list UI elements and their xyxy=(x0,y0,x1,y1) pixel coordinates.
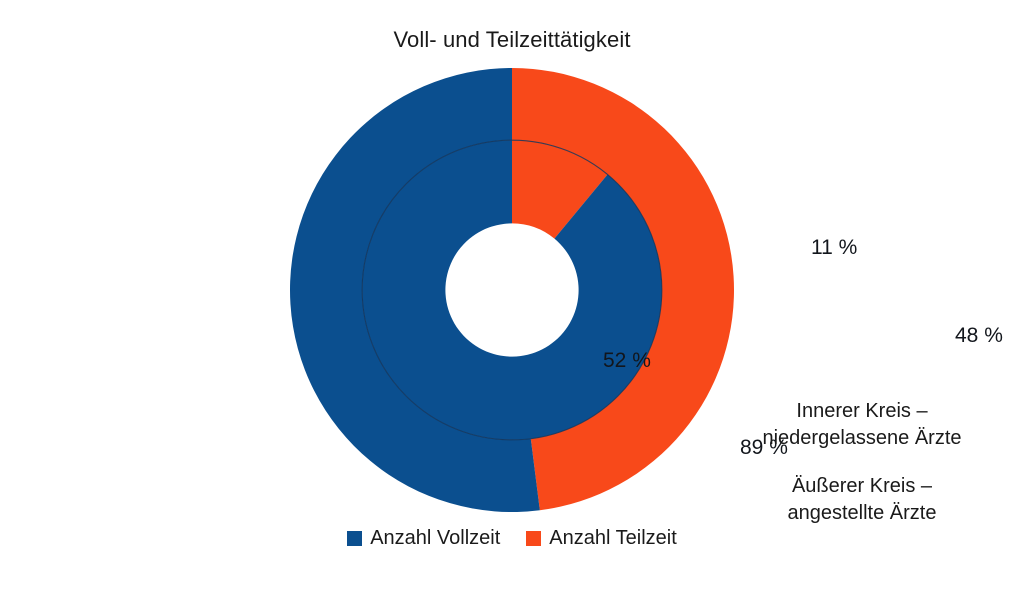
annotation-outer-line2: angestellte Ärzte xyxy=(712,500,1012,527)
legend-swatch-icon-teilzeit xyxy=(526,531,541,546)
legend-label-vollzeit: Anzahl Vollzeit xyxy=(370,526,500,550)
inner-slice-vollzeit[interactable] xyxy=(362,140,662,440)
annotation-outer-ring: Äußerer Kreis – angestellte Ärzte xyxy=(712,473,1012,527)
legend-swatch-icon-vollzeit xyxy=(347,531,362,546)
legend-label-teilzeit: Anzahl Teilzeit xyxy=(549,526,676,550)
annotation-outer-line1: Äußerer Kreis – xyxy=(712,473,1012,500)
data-label-outer-vollzeit: 52 % xyxy=(603,349,651,373)
chart-canvas: Voll- und Teilzeittätigkeit 52 % 48 % 11… xyxy=(0,0,1024,597)
annotation-inner-line2: niedergelassene Ärzte xyxy=(712,425,1012,452)
data-label-inner-teilzeit: 11 % xyxy=(811,236,857,260)
annotation-inner-line1: Innerer Kreis – xyxy=(712,398,1012,425)
outer-ring-angestellte-aerzte xyxy=(290,68,734,512)
chart-title: Voll- und Teilzeittätigkeit xyxy=(0,26,1024,54)
legend-item-vollzeit[interactable]: Anzahl Vollzeit xyxy=(347,526,500,550)
data-label-outer-teilzeit: 48 % xyxy=(955,324,1003,348)
chart-legend: Anzahl Vollzeit Anzahl Teilzeit xyxy=(0,526,1024,550)
annotation-inner-ring: Innerer Kreis – niedergelassene Ärzte xyxy=(712,398,1012,452)
ring-annotation: Innerer Kreis – niedergelassene Ärzte Äu… xyxy=(712,398,1012,527)
inner-ring-niedergelassene-aerzte xyxy=(362,140,662,440)
legend-item-teilzeit[interactable]: Anzahl Teilzeit xyxy=(526,526,676,550)
doughnut-chart: 52 % 48 % 11 % 89 % xyxy=(290,68,734,512)
doughnut-svg xyxy=(290,68,734,512)
